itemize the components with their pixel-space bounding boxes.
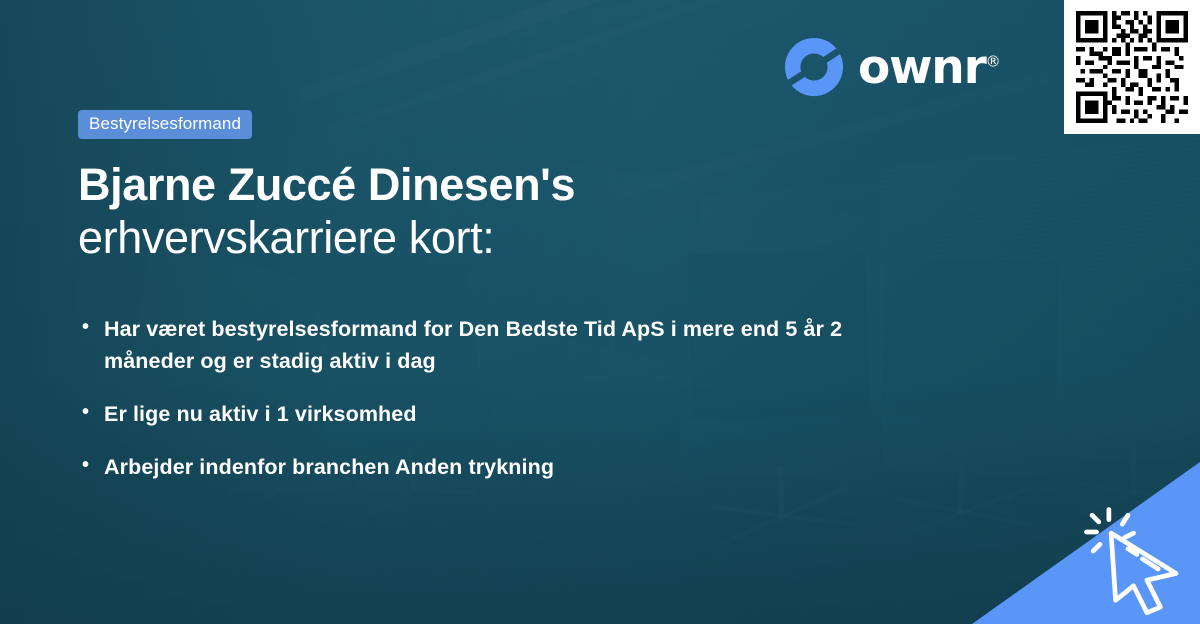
ownr-wordmark: ownr® xyxy=(858,44,1001,91)
registered-symbol: ® xyxy=(986,52,1001,70)
ownr-circle-slash-icon xyxy=(783,36,845,98)
qr-code-panel[interactable] xyxy=(1064,0,1200,134)
wordmark-text: ownr xyxy=(858,40,986,95)
career-facts-list: Har været bestyrelsesformand for Den Bed… xyxy=(78,314,918,483)
list-item: Er lige nu aktiv i 1 virksomhed xyxy=(78,399,904,431)
role-badge: Bestyrelsesformand xyxy=(78,110,252,139)
headline-name: Bjarne Zuccé Dinesen's xyxy=(78,158,918,211)
corner-accent xyxy=(972,462,1200,624)
content-column: Bestyrelsesformand Bjarne Zuccé Dinesen'… xyxy=(78,110,918,504)
list-item: Har været bestyrelsesformand for Den Bed… xyxy=(78,314,904,378)
headline-subtitle: erhvervskarriere kort: xyxy=(78,211,918,264)
ownr-logo[interactable]: ownr® xyxy=(783,36,1001,98)
page-title: Bjarne Zuccé Dinesen's erhvervskarriere … xyxy=(78,158,918,264)
qr-code-icon xyxy=(1076,11,1188,123)
list-item: Arbejder indenfor branchen Anden tryknin… xyxy=(78,452,904,484)
business-career-card: ownr® Bestyrelsesformand Bjarne Zuccé Di… xyxy=(0,0,1200,624)
click-cursor-icon xyxy=(1082,504,1194,616)
